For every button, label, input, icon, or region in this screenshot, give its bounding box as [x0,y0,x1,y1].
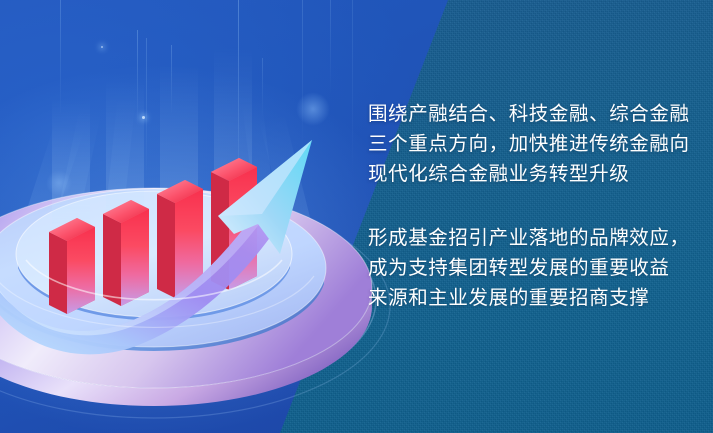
paragraph-1-line-1: 围绕产融结合、科技金融、综合金融 [368,99,698,129]
bar-1 [49,218,95,314]
paragraph-1: 围绕产融结合、科技金融、综合金融 三个重点方向，加快推进传统金融向 现代化综合金… [368,99,698,189]
paragraph-2: 形成基金招引产业落地的品牌效应， 成为支持集团转型发展的重要收益 来源和主业发展… [368,223,698,313]
paragraph-2-line-2: 成为支持集团转型发展的重要收益 [368,253,698,283]
paragraph-1-line-3: 现代化综合金融业务转型升级 [368,159,698,189]
text-content: 围绕产融结合、科技金融、综合金融 三个重点方向，加快推进传统金融向 现代化综合金… [368,99,698,313]
growth-chart-illustration [0,92,392,422]
paragraph-2-line-1: 形成基金招引产业落地的品牌效应， [368,223,698,253]
bar-2 [103,200,149,306]
paragraph-1-line-2: 三个重点方向，加快推进传统金融向 [368,129,698,159]
banner-stage: 围绕产融结合、科技金融、综合金融 三个重点方向，加快推进传统金融向 现代化综合金… [0,0,713,433]
paragraph-2-line-3: 来源和主业发展的重要招商支撑 [368,283,698,313]
